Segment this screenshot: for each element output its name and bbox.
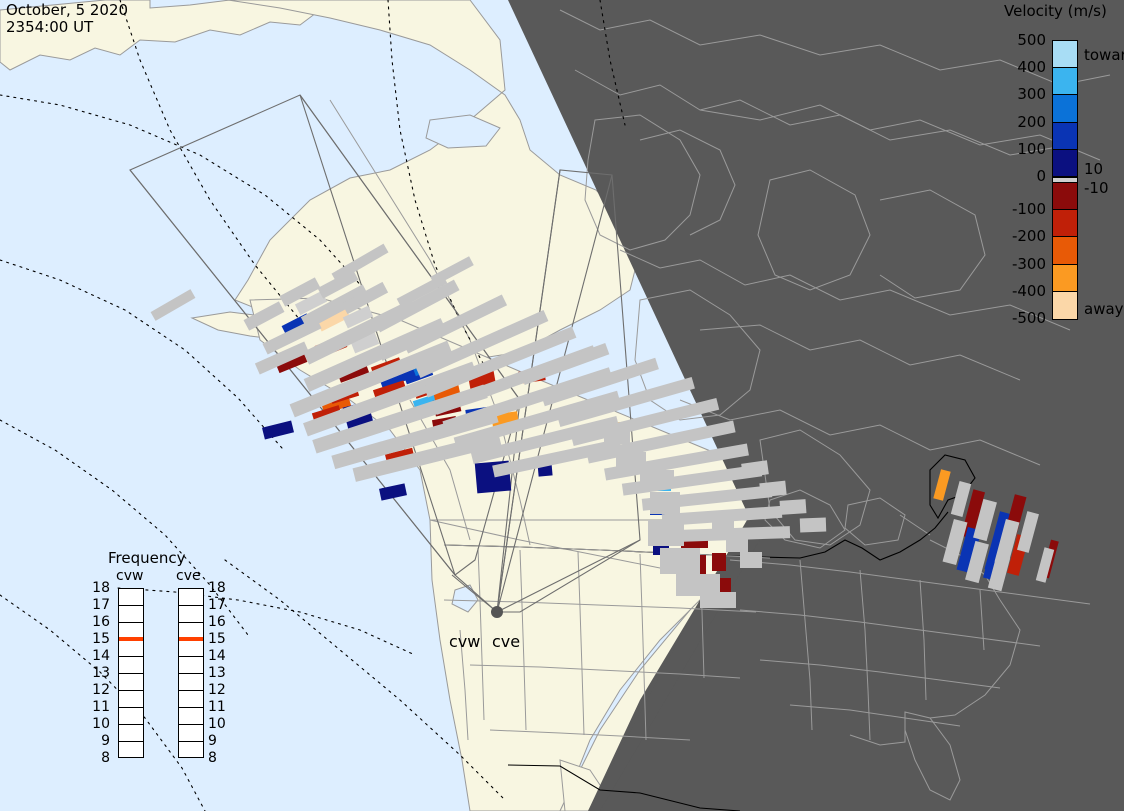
frequency-tick-cve-10: 10 (208, 716, 230, 732)
frequency-tick-cvw-9: 9 (88, 733, 110, 749)
frequency-tick-cvw-18: 18 (88, 580, 110, 596)
frequency-segment (179, 640, 203, 657)
frequency-tick-cve-18: 18 (208, 580, 230, 596)
frequency-segment (179, 691, 203, 708)
frequency-segment (179, 725, 203, 742)
frequency-tick-cve-11: 11 (208, 699, 230, 715)
ground-scatter-cell (780, 499, 807, 515)
frequency-tick-cve-14: 14 (208, 648, 230, 664)
ground-scatter-cell (648, 520, 684, 546)
colorbar-band-100 (1053, 150, 1077, 177)
colorbar-band--100 (1053, 183, 1077, 210)
ground-scatter-cell (740, 552, 762, 568)
frequency-tick-cvw-17: 17 (88, 597, 110, 613)
ground-scatter-cell (726, 534, 748, 552)
colorbar-tick-200: 200 (1000, 113, 1046, 131)
colorbar-band--200 (1053, 210, 1077, 237)
frequency-segment (179, 674, 203, 691)
ground-scatter-cell (800, 518, 826, 533)
colorbar-tick-500: 500 (1000, 31, 1046, 49)
frequency-segment (119, 691, 143, 708)
colorbar-band--500 (1053, 292, 1077, 319)
frequency-tick-cvw-12: 12 (88, 682, 110, 698)
colorbar-tick--100: -100 (1000, 200, 1046, 218)
frequency-bar-cve[interactable] (178, 588, 204, 758)
colorbar-band--300 (1053, 237, 1077, 264)
frequency-legend-title: Frequency (108, 549, 186, 567)
colorbar-title: Velocity (m/s) (1004, 2, 1107, 20)
frequency-segment (119, 589, 143, 606)
frequency-segment (119, 640, 143, 657)
ground-scatter-cell (616, 452, 646, 468)
frequency-segment (119, 606, 143, 623)
colorbar-tick--200: -200 (1000, 227, 1046, 245)
frequency-tick-cvw-8: 8 (88, 750, 110, 766)
map-canvas[interactable] (0, 0, 1124, 811)
frequency-tick-cve-8: 8 (208, 750, 230, 766)
velocity-cell[interactable] (712, 553, 726, 571)
ground-scatter-cell (712, 512, 734, 530)
ground-scatter-cell (660, 548, 700, 574)
frequency-tick-cvw-16: 16 (88, 614, 110, 630)
frequency-segment (119, 657, 143, 674)
radar-map-viewport: October, 5 2020 2354:00 UT Velocity (m/s… (0, 0, 1124, 811)
frequency-segment (119, 725, 143, 742)
colorbar-toward-label: toward (1084, 46, 1124, 64)
colorbar-band--400 (1053, 265, 1077, 292)
frequency-scale-name-cve: cve (176, 568, 201, 584)
frequency-bar-cvw[interactable] (118, 588, 144, 758)
ground-scatter-cell (700, 592, 736, 608)
site-label-cvw[interactable]: cvw (449, 632, 480, 651)
frequency-segment (179, 606, 203, 623)
colorbar-band-400 (1053, 68, 1077, 95)
colorbar-tick--300: -300 (1000, 255, 1046, 273)
colorbar-band-300 (1053, 95, 1077, 122)
colorbar-tick--400: -400 (1000, 282, 1046, 300)
colorbar-band-500 (1053, 41, 1077, 68)
frequency-marker-cvw (119, 637, 143, 641)
frequency-segment (119, 708, 143, 725)
colorbar-tick-100: 100 (1000, 140, 1046, 158)
colorbar-band-200 (1053, 123, 1077, 150)
frequency-scale-name-cvw: cvw (116, 568, 143, 584)
velocity-colorbar[interactable] (1052, 40, 1078, 320)
title-date: October, 5 2020 (6, 1, 128, 19)
ground-scatter-cell (640, 470, 674, 488)
frequency-tick-cvw-10: 10 (88, 716, 110, 732)
frequency-segment (119, 674, 143, 691)
ground-scatter-cell (604, 430, 630, 444)
frequency-marker-cve (179, 637, 203, 641)
frequency-segment (119, 742, 143, 759)
frequency-tick-cve-12: 12 (208, 682, 230, 698)
colorbar-away-label: away (1084, 300, 1124, 318)
frequency-tick-cve-9: 9 (208, 733, 230, 749)
frequency-tick-cve-15: 15 (208, 631, 230, 647)
frequency-tick-cve-17: 17 (208, 597, 230, 613)
colorbar-tick-400: 400 (1000, 58, 1046, 76)
frequency-tick-cvw-13: 13 (88, 665, 110, 681)
title-time: 2354:00 UT (6, 18, 93, 36)
frequency-tick-cvw-14: 14 (88, 648, 110, 664)
ground-scatter-cell (650, 492, 680, 514)
radar-site-marker[interactable] (491, 606, 503, 618)
colorbar-center-positive-label: 10 (1084, 160, 1103, 178)
frequency-segment (179, 742, 203, 759)
colorbar-tick-300: 300 (1000, 85, 1046, 103)
site-label-cve[interactable]: cve (492, 632, 520, 651)
timestamp-title: October, 5 2020 2354:00 UT (6, 2, 128, 36)
frequency-segment (179, 708, 203, 725)
frequency-tick-cvw-15: 15 (88, 631, 110, 647)
colorbar-center-negative-label: -10 (1084, 179, 1109, 197)
frequency-tick-cve-13: 13 (208, 665, 230, 681)
frequency-tick-cve-16: 16 (208, 614, 230, 630)
colorbar-tick--500: -500 (1000, 309, 1046, 327)
frequency-segment (179, 657, 203, 674)
frequency-segment (179, 589, 203, 606)
frequency-tick-cvw-11: 11 (88, 699, 110, 715)
ground-scatter-cell (759, 481, 786, 498)
colorbar-tick-0: 0 (1000, 167, 1046, 185)
